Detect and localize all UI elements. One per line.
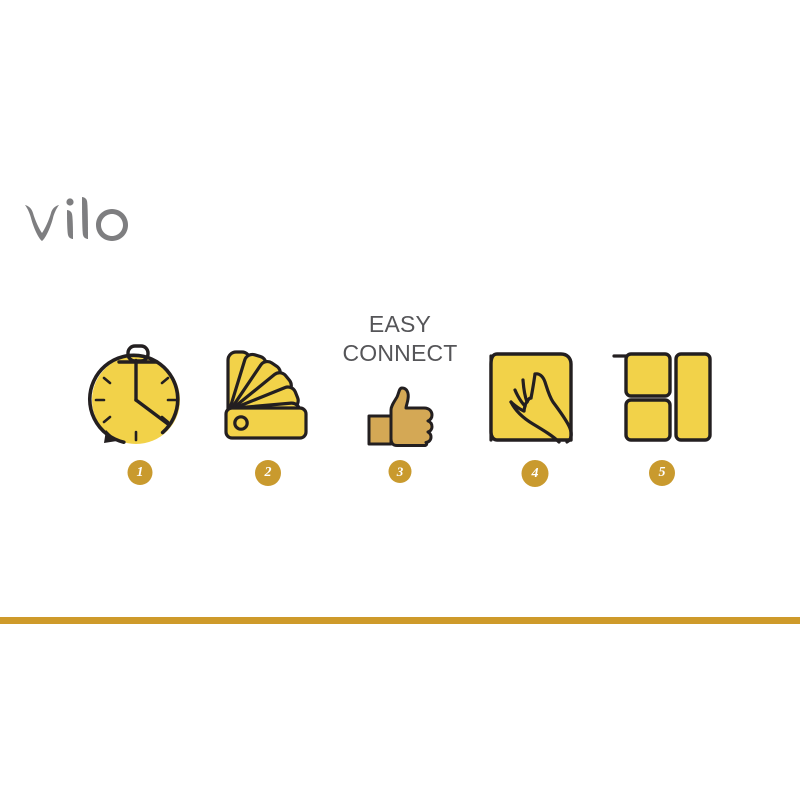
colour-swatch-fan-icon [203, 300, 333, 448]
step-badge-2: 2 [255, 460, 281, 486]
panel-layout-icon [597, 300, 727, 448]
step-badge-5: 5 [649, 460, 675, 486]
vilo-wordmark-icon [22, 197, 132, 249]
feature-strip: 1 2 EA [75, 300, 725, 500]
step-badge-1: 1 [128, 460, 153, 485]
stopwatch-icon [75, 300, 205, 448]
thumbs-up-icon [335, 300, 465, 448]
feature-item-colour-fan[interactable]: 2 [203, 300, 333, 500]
step-badge-3: 3 [389, 460, 412, 483]
feature-item-easy-connect[interactable]: EASY CONNECT 3 [335, 300, 465, 500]
hand-wipe-panel-icon [470, 300, 600, 448]
step-badge-4: 4 [522, 460, 549, 487]
brand-logo [22, 197, 132, 249]
feature-item-easy-clean[interactable]: 4 [470, 300, 600, 500]
gold-divider-rule [0, 617, 800, 624]
feature-item-panel-layout[interactable]: 5 [597, 300, 727, 500]
feature-item-stopwatch[interactable]: 1 [75, 300, 205, 500]
